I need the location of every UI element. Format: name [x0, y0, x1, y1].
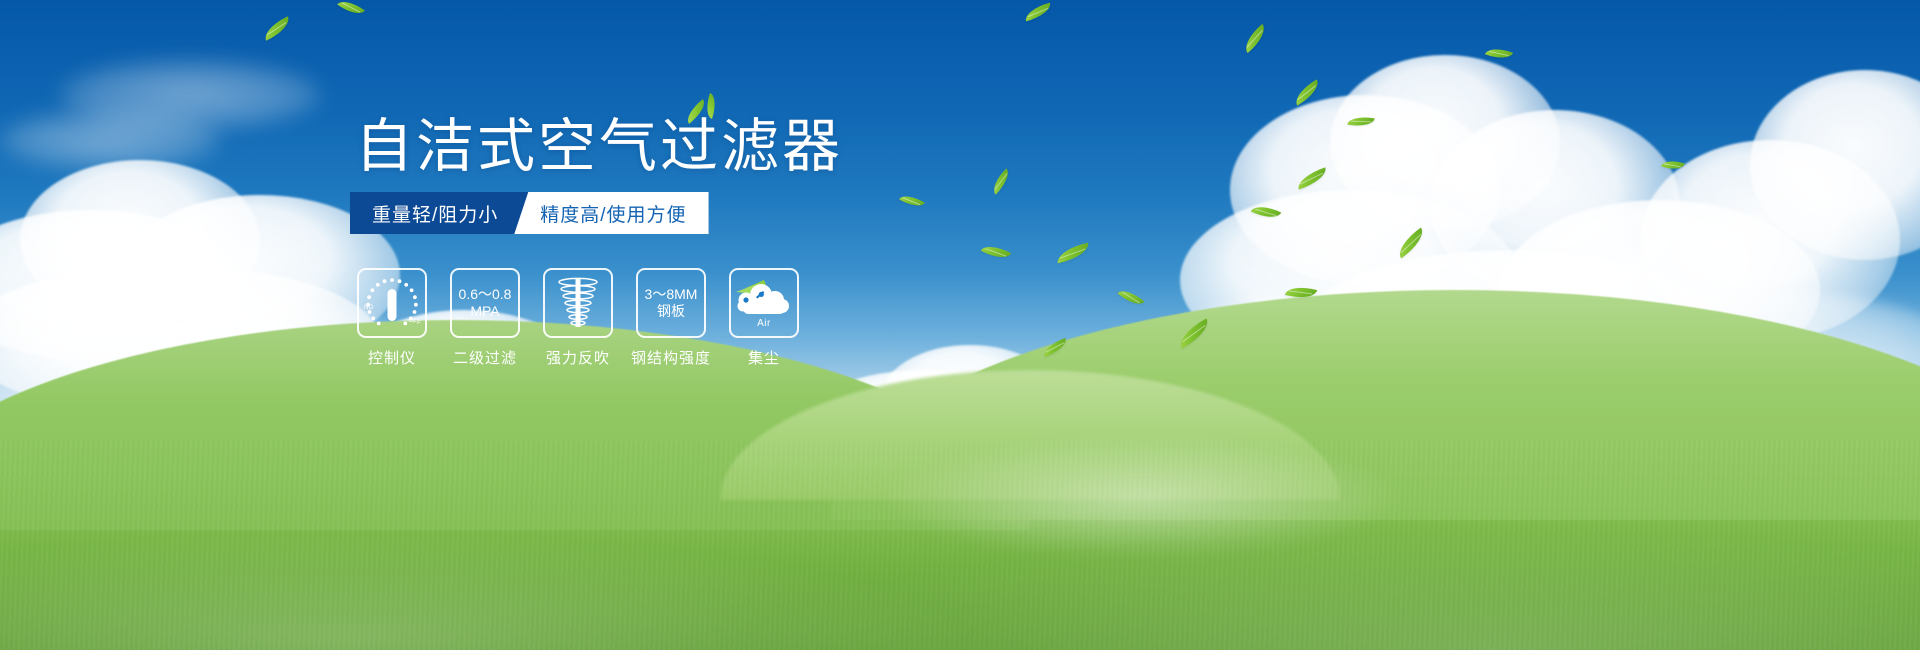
cloud-air-icon: Air	[734, 278, 794, 328]
pressure-text-icon: 0.6〜0.8 MPA	[459, 286, 512, 320]
feature-item-filtration: 0.6〜0.8 MPA 二级过滤	[449, 268, 521, 368]
page-title: 自洁式空气过滤器	[355, 118, 843, 176]
subtitle-pill-secondary: 精度高/使用方便	[514, 192, 708, 234]
gauge-needle-icon	[388, 289, 397, 321]
feature-caption: 集尘	[748, 347, 780, 368]
filter-cartridge-icon	[555, 277, 601, 329]
feature-icon-box	[543, 268, 613, 338]
feature-item-backblow: 强力反吹	[542, 268, 614, 368]
title-leaf-icon	[683, 90, 727, 124]
hero-banner: 自洁式空气过滤器 重量轻/阻力小 精度高/使用方便	[0, 0, 1920, 650]
feature-caption: 控制仪	[368, 347, 416, 368]
feature-icon-box: NO OFF	[357, 268, 427, 338]
feature-item-dust: Air 集尘	[728, 268, 800, 368]
feature-icon-box: 3〜8MM 钢板	[636, 268, 706, 338]
feature-caption: 钢结构强度	[631, 347, 711, 368]
feature-list: NO OFF 控制仪 0.6〜0.8 MPA 二级过滤	[356, 268, 800, 368]
feature-icon-box: 0.6〜0.8 MPA	[450, 268, 520, 338]
feature-item-controller: NO OFF 控制仪	[356, 268, 428, 368]
feature-icon-box: Air	[729, 268, 799, 338]
subtitle-pill-primary: 重量轻/阻力小	[350, 192, 528, 234]
steel-plate-text-icon: 3〜8MM 钢板	[645, 286, 698, 320]
banner-content: 自洁式空气过滤器 重量轻/阻力小 精度高/使用方便	[0, 0, 1920, 650]
feature-item-steel: 3〜8MM 钢板 钢结构强度	[635, 268, 707, 368]
feature-caption: 强力反吹	[546, 347, 610, 368]
gauge-icon: NO OFF	[363, 275, 421, 331]
air-label: Air	[734, 318, 794, 329]
subtitle-pill-group: 重量轻/阻力小 精度高/使用方便	[350, 192, 709, 234]
feature-caption: 二级过滤	[453, 347, 517, 368]
gauge-label-no: NO	[364, 305, 374, 311]
